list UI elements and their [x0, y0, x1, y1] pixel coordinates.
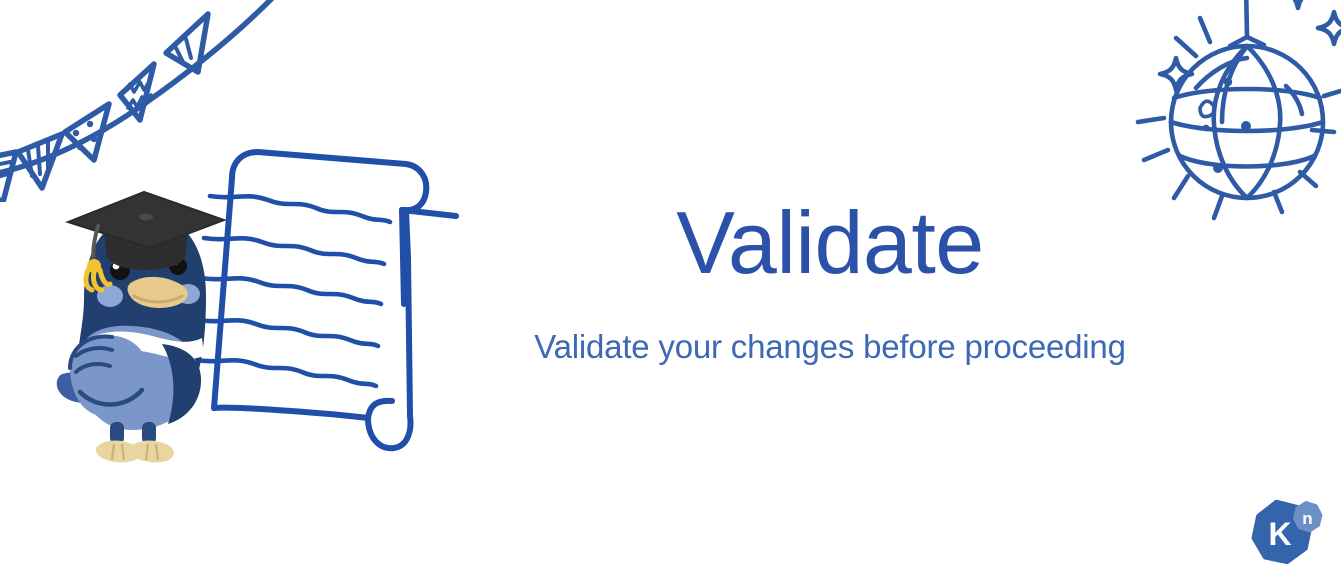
certificate-scroll-icon	[176, 138, 466, 458]
hero-text-block: Validate Validate your changes before pr…	[430, 196, 1230, 367]
logo-badge-letter: n	[1302, 509, 1312, 528]
kn-brand-logo[interactable]: K n	[1249, 499, 1323, 569]
page-subtitle: Validate your changes before proceeding	[430, 327, 1230, 367]
logo-primary-letter: K	[1268, 516, 1291, 552]
graduate-bird-mascot	[54, 186, 236, 468]
hero-banner: Validate Validate your changes before pr…	[0, 0, 1341, 585]
party-bunting-icon	[0, 0, 334, 202]
page-title: Validate	[430, 196, 1230, 289]
